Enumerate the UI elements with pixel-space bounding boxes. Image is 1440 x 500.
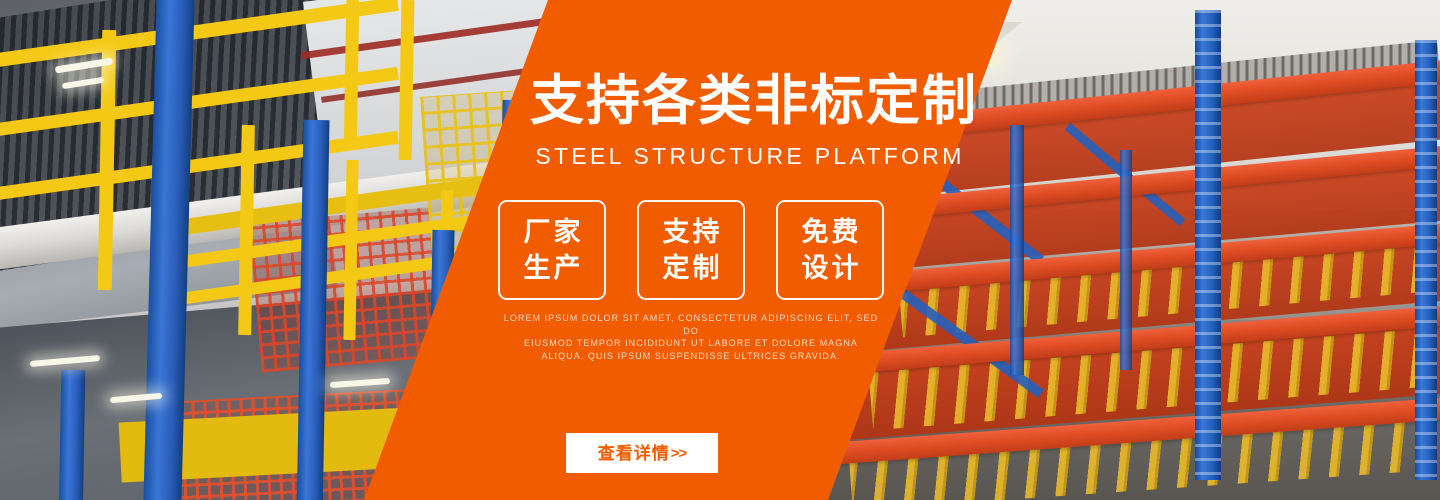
rack-upright xyxy=(1010,125,1024,375)
subheadline: STEEL STRUCTURE PLATFORM xyxy=(530,143,970,170)
description-line-2: EIUSMOD TEMPOR INCIDIDUNT UT LABORE ET D… xyxy=(495,337,887,350)
chevron-right-double-icon: >> xyxy=(671,445,687,462)
description-line-1: LOREM IPSUM DOLOR SIT AMET, CONSECTETUR … xyxy=(495,312,887,337)
guardrail-post xyxy=(399,0,415,160)
feature-badge-group: 厂家 生产 支持 定制 免费 设计 xyxy=(498,200,884,300)
upright-perforations xyxy=(1195,10,1221,480)
badge-line-2: 设计 xyxy=(799,250,862,286)
badge-line-2: 定制 xyxy=(660,250,723,286)
badge-line-1: 支持 xyxy=(660,214,723,250)
badge-line-1: 厂家 xyxy=(521,214,584,250)
view-details-button[interactable]: 查看详情 >> xyxy=(566,433,718,473)
description-text: LOREM IPSUM DOLOR SIT AMET, CONSECTETUR … xyxy=(495,312,887,362)
promo-banner: 支持各类非标定制 STEEL STRUCTURE PLATFORM 厂家 生产 … xyxy=(0,0,1440,500)
badge-manufacturer: 厂家 生产 xyxy=(498,200,606,300)
view-details-label: 查看详情 xyxy=(598,445,670,462)
upright-perforations xyxy=(1415,40,1437,480)
badge-line-1: 免费 xyxy=(799,214,862,250)
guardrail-post xyxy=(344,0,360,150)
badge-line-2: 生产 xyxy=(521,250,584,286)
steel-column xyxy=(59,370,86,500)
badge-customization: 支持 定制 xyxy=(637,200,745,300)
headline: 支持各类非标定制 xyxy=(530,72,970,130)
rack-upright xyxy=(1120,150,1132,370)
badge-free-design: 免费 设计 xyxy=(776,200,884,300)
description-line-3: ALIQUA. QUIS IPSUM SUSPENDISSE ULTRICES … xyxy=(495,350,887,363)
